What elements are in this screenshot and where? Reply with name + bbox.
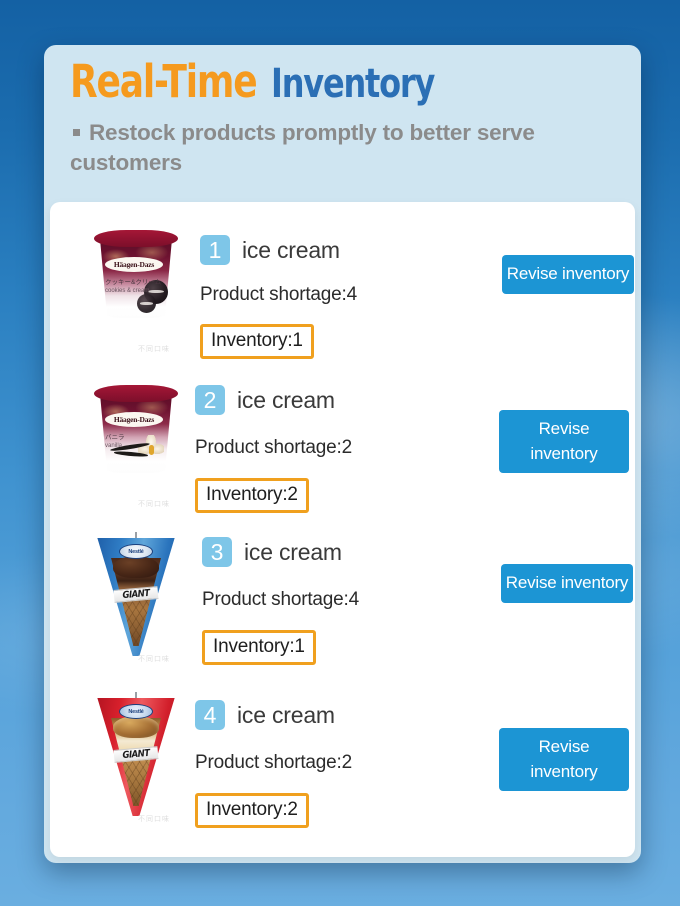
revise-inventory-button[interactable]: Revise inventory: [499, 728, 629, 791]
brand-label: Nestlé: [119, 704, 153, 719]
product-thumbnail: Nestlé GIANT 不同口味: [80, 690, 192, 818]
list-item: Nestlé GIANT 不同口味 4 ice cream Product sh…: [50, 680, 635, 835]
product-info: 3 ice cream Product shortage:4 Inventory…: [202, 520, 502, 665]
thumbnail-watermark: 不同口味: [138, 814, 170, 824]
revise-inventory-button[interactable]: Revise inventory: [502, 255, 634, 294]
product-name: ice cream: [244, 539, 342, 566]
product-name: ice cream: [237, 702, 335, 729]
flavor-label: バニラ vanilla: [105, 433, 125, 450]
brand-label: Häagen-Dazs: [105, 412, 163, 427]
cone-topping: [113, 716, 159, 738]
thumbnail-watermark: 不同口味: [138, 654, 170, 664]
product-name-line: 3 ice cream: [202, 535, 502, 569]
product-thumbnail: Häagen-Dazs バニラ vanilla 不同口味: [80, 375, 192, 503]
product-thumbnail: Häagen-Dazs クッキー&クリーム cookies & cream 不同…: [80, 220, 192, 348]
revise-inventory-button[interactable]: Revise inventory: [499, 410, 629, 473]
inventory-badge: Inventory:1: [202, 630, 316, 665]
page-subtitle: Restock products promptly to better serv…: [70, 118, 630, 178]
product-info: 4 ice cream Product shortage:2 Inventory…: [195, 680, 495, 828]
product-shortage: Product shortage:4: [202, 589, 502, 611]
product-name-line: 4 ice cream: [195, 698, 495, 732]
page-title: Real-TimeInventory: [70, 59, 641, 104]
page-title-highlight: Real-Time: [70, 59, 256, 104]
flavor-label-en: vanilla: [105, 442, 125, 450]
list-item: Häagen-Dazs バニラ vanilla 不同口味 2 ice cream…: [50, 365, 635, 520]
product-shortage: Product shortage:2: [195, 752, 495, 774]
ice-cream-cone-icon: Nestlé GIANT: [94, 692, 178, 818]
inventory-badge: Inventory:2: [195, 478, 309, 513]
flavor-label-jp: クッキー&クリーム: [105, 278, 161, 287]
page-title-rest: Inventory: [271, 64, 434, 104]
list-item: Nestlé GIANT 不同口味 3 ice cream Product sh…: [50, 520, 635, 675]
ice-cream-cone-icon: Nestlé GIANT: [94, 532, 178, 658]
card-header: Real-TimeInventory Restock products prom…: [44, 45, 641, 178]
product-number-badge: 1: [200, 235, 230, 265]
brand-label: Nestlé: [119, 544, 153, 559]
cone-name-text: GIANT: [122, 748, 150, 761]
product-info: 1 ice cream Product shortage:4 Inventory…: [200, 210, 500, 359]
product-thumbnail: Nestlé GIANT 不同口味: [80, 530, 192, 658]
flavor-label-en: cookies & cream: [105, 287, 161, 295]
ice-cream-cup-icon: Häagen-Dazs バニラ vanilla: [98, 385, 174, 473]
oreo-cookie-icon: [137, 294, 156, 313]
product-info: 2 ice cream Product shortage:2 Inventory…: [195, 365, 495, 513]
brand-label: Häagen-Dazs: [105, 257, 163, 272]
revise-inventory-button[interactable]: Revise inventory: [501, 564, 633, 603]
product-name: ice cream: [237, 387, 335, 414]
flavor-label-jp: バニラ: [105, 433, 125, 442]
product-name: ice cream: [242, 237, 340, 264]
cup-lid: [94, 385, 178, 402]
product-number-badge: 4: [195, 700, 225, 730]
list-item: Häagen-Dazs クッキー&クリーム cookies & cream 不同…: [50, 210, 635, 365]
inventory-card: Real-TimeInventory Restock products prom…: [44, 45, 641, 863]
thumbnail-watermark: 不同口味: [138, 344, 170, 354]
product-name-line: 2 ice cream: [195, 383, 495, 417]
cone-name-text: GIANT: [122, 588, 150, 601]
inventory-badge: Inventory:1: [200, 324, 314, 359]
ice-cream-cup-icon: Häagen-Dazs クッキー&クリーム cookies & cream: [98, 230, 174, 318]
flavor-label: クッキー&クリーム cookies & cream: [105, 278, 161, 295]
inventory-badge: Inventory:2: [195, 793, 309, 828]
cone-topping: [113, 556, 159, 578]
product-name-line: 1 ice cream: [200, 233, 500, 267]
thumbnail-watermark: 不同口味: [138, 499, 170, 509]
product-number-badge: 2: [195, 385, 225, 415]
product-number-badge: 3: [202, 537, 232, 567]
product-list-panel: Häagen-Dazs クッキー&クリーム cookies & cream 不同…: [50, 202, 635, 857]
cup-lid: [94, 230, 178, 247]
product-shortage: Product shortage:4: [200, 284, 500, 306]
page-subtitle-text: Restock products promptly to better serv…: [70, 120, 535, 175]
bullet-square-icon: [73, 129, 80, 136]
product-shortage: Product shortage:2: [195, 437, 495, 459]
